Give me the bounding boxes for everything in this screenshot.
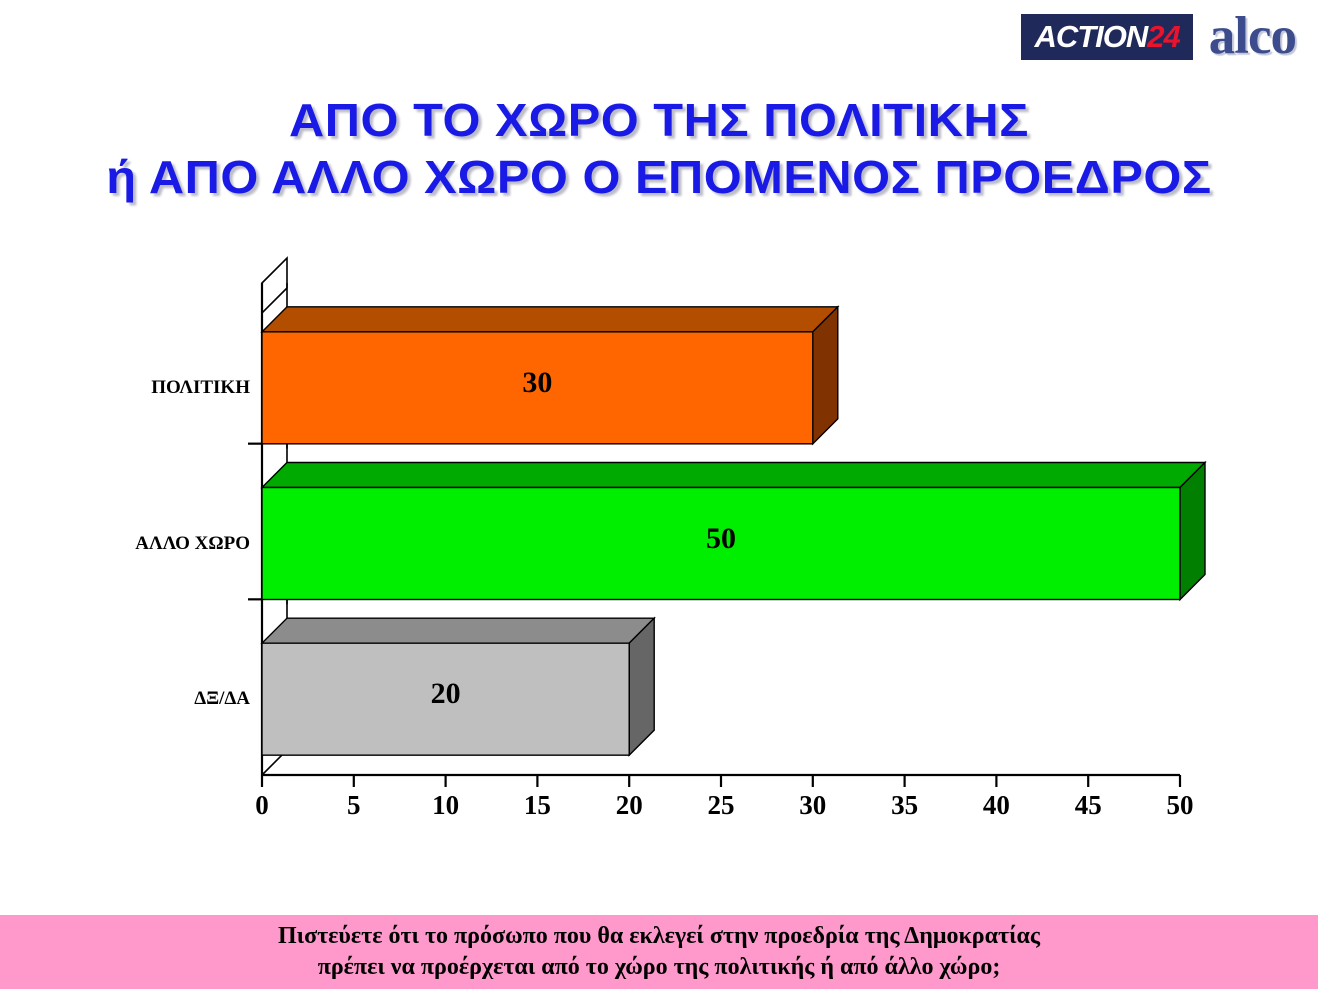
x-axis-tick-label-10: 10 — [406, 790, 486, 821]
chart-canvas — [0, 0, 1318, 860]
x-axis-tick-label-25: 25 — [681, 790, 761, 821]
bar-value-dx-da: 20 — [222, 677, 669, 711]
x-axis-tick-label-30: 30 — [773, 790, 853, 821]
footer-question-line-2: πρέπει να προέρχεται από το χώρο της πολ… — [318, 952, 1001, 983]
x-axis-tick-label-5: 5 — [314, 790, 394, 821]
x-axis-tick-label-35: 35 — [865, 790, 945, 821]
x-axis-tick-label-40: 40 — [956, 790, 1036, 821]
x-axis-tick-label-45: 45 — [1048, 790, 1128, 821]
x-axis-tick-label-50: 50 — [1140, 790, 1220, 821]
category-label-politiki: ΠΟΛΙΤΙΚΗ — [20, 377, 250, 399]
x-axis-tick-label-0: 0 — [222, 790, 302, 821]
category-label-allo-xoro: ΑΛΛΟ ΧΩΡΟ — [20, 533, 250, 555]
footer-question-banner: Πιστεύετε ότι το πρόσωπο που θα εκλεγεί … — [0, 915, 1318, 989]
x-axis-tick-label-20: 20 — [589, 790, 669, 821]
footer-question-line-1: Πιστεύετε ότι το πρόσωπο που θα εκλεγεί … — [278, 921, 1040, 952]
bar-value-politiki: 30 — [222, 366, 853, 400]
bar-value-allo-xoro: 50 — [222, 522, 1220, 556]
bar-top-face-allo-xoro — [262, 463, 1205, 488]
x-axis-tick-label-15: 15 — [497, 790, 577, 821]
bar-chart: ΠΟΛΙΤΙΚΗ ΑΛΛΟ ΧΩΡΟ ΔΞ/ΔΑ 30 50 20 051015… — [0, 0, 1318, 860]
category-label-dx-da: ΔΞ/ΔΑ — [20, 688, 250, 710]
bar-top-face-dx-da — [262, 618, 654, 643]
bar-top-face-politiki — [262, 307, 838, 332]
y-axis-cap — [262, 258, 287, 313]
